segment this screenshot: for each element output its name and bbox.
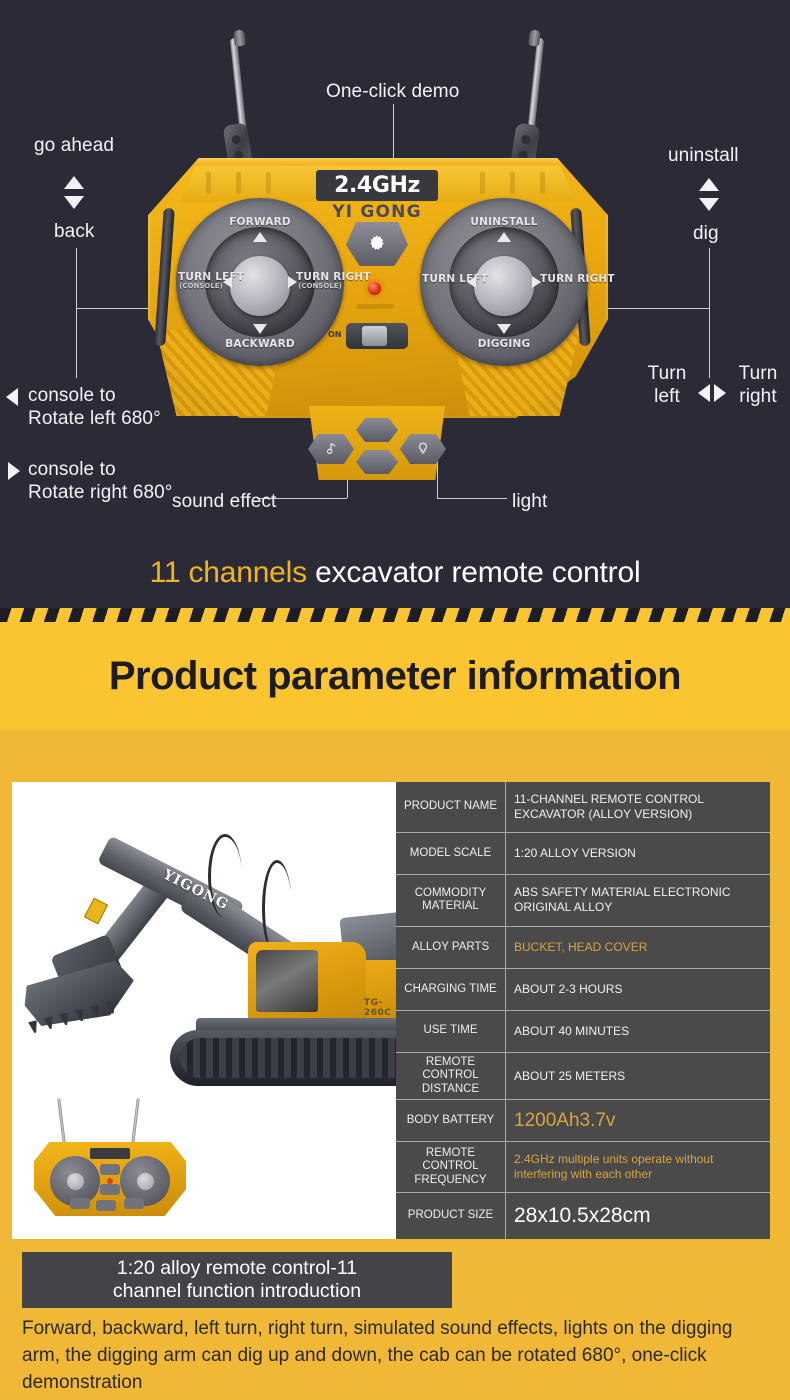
table-row: USE TIMEABOUT 40 MINUTES — [396, 1011, 770, 1053]
gear-icon — [366, 233, 388, 255]
hero-tagline: 11 channels excavator remote control — [0, 556, 790, 590]
caption-line2: channel function introduction — [113, 1280, 361, 1302]
table-cell-key: MODEL SCALE — [396, 833, 506, 874]
turn-right-line2: right — [739, 386, 776, 407]
turn-left-line2: left — [654, 386, 680, 407]
table-cell-value: BUCKET, HEAD COVER — [506, 927, 770, 968]
turn-left-line1: Turn — [648, 363, 687, 384]
hazard-stripe-divider — [0, 608, 790, 622]
table-cell-key: REMOTE CONTROL DISTANCE — [396, 1053, 506, 1100]
antenna-tip-right — [528, 29, 541, 46]
joystick-stick-right[interactable] — [474, 256, 534, 316]
function-description: Forward, backward, left turn, right turn… — [22, 1316, 762, 1397]
arrow-down-icon-left — [64, 196, 84, 209]
pod-right-label-uninstall: UNINSTALL — [420, 216, 588, 228]
mini-remote-badge — [90, 1148, 130, 1159]
warning-sticker — [84, 898, 108, 925]
callout-dig: dig — [693, 222, 719, 246]
spec-section: YIGONG TG-260C PRODUC — [12, 782, 770, 1239]
hero-section: One-click demo go ahead back uninstall d… — [0, 0, 790, 608]
photo-mini-remote — [34, 1098, 186, 1216]
excavator-track — [170, 1030, 396, 1086]
mini-button-3 — [70, 1198, 90, 1209]
pod-left-label-turn-right: TURN RIGHT (CONSOLE) — [296, 272, 344, 290]
leader-line-left-vertical — [76, 248, 77, 378]
arrow-up-icon-left — [64, 176, 84, 189]
pod-right-label-turn-left: TURN LEFT — [422, 274, 468, 285]
leader-line-right-vertical — [709, 248, 710, 378]
pod-left-turn-right-sub: (CONSOLE) — [296, 283, 344, 290]
mini-button-1 — [100, 1164, 120, 1175]
pod-right-arrow-left-icon — [467, 276, 476, 288]
table-cell-key: COMMODITY MATERIAL — [396, 875, 506, 926]
table-cell-value: 1:20 ALLOY VERSION — [506, 833, 770, 874]
pod-left-arrow-right-icon — [288, 276, 297, 288]
pod-left-label-turn-left: TURN LEFT (CONSOLE) — [178, 272, 224, 290]
table-cell-value: 28x10.5x28cm — [506, 1193, 770, 1239]
arrow-right-icon-console-r — [8, 462, 20, 480]
arrow-left-icon-console-l — [6, 388, 18, 406]
table-row: CHARGING TIMEABOUT 2-3 HOURS — [396, 969, 770, 1011]
remote-control-device: 2.4GHz YI GONG ON OFF FORWARD BACKWARD T… — [128, 30, 628, 470]
antenna-tip-left — [233, 29, 246, 46]
console-rotate-left-line1: console to — [28, 385, 116, 406]
table-row: PRODUCT SIZE28x10.5x28cm — [396, 1193, 770, 1239]
caption-line1: 1:20 alloy remote control-11 — [117, 1257, 357, 1279]
table-row: ALLOY PARTSBUCKET, HEAD COVER — [396, 927, 770, 969]
table-cell-value: ABOUT 25 METERS — [506, 1053, 770, 1100]
tagline-highlight: 11 channels — [150, 556, 307, 589]
pod-right-arrow-up-icon — [497, 232, 511, 242]
mini-stick-right — [137, 1173, 154, 1190]
table-cell-key: PRODUCT NAME — [396, 782, 506, 832]
callout-go-ahead: go ahead — [34, 134, 114, 158]
mini-button-4 — [96, 1200, 116, 1211]
sound-icon — [323, 441, 339, 457]
mini-antenna-right — [131, 1098, 140, 1144]
arrow-up-icon-right — [699, 178, 719, 191]
callout-light: light — [512, 490, 547, 514]
table-cell-key: CHARGING TIME — [396, 969, 506, 1010]
caption-text: 1:20 alloy remote control-11channel func… — [113, 1257, 361, 1303]
speaker-slot — [356, 304, 394, 309]
mini-button-5 — [124, 1198, 144, 1209]
table-cell-key: BODY BATTERY — [396, 1100, 506, 1141]
table-cell-value: 11-CHANNEL REMOTE CONTROL EXCAVATOR (ALL… — [506, 782, 770, 832]
pod-left-arrow-left-icon — [223, 276, 232, 288]
table-row: COMMODITY MATERIALABS SAFETY MATERIAL EL… — [396, 875, 770, 927]
callout-sound-effect: sound effect — [172, 490, 276, 514]
table-cell-value: 1200Ah3.7v — [506, 1100, 770, 1141]
turn-right-line1: Turn — [739, 363, 778, 384]
table-row: REMOTE CONTROL DISTANCEABOUT 25 METERS — [396, 1053, 770, 1101]
pod-right-arrow-down-icon — [497, 324, 511, 334]
table-cell-value: 2.4GHz multiple units operate without in… — [506, 1142, 770, 1192]
table-row: REMOTE CONTROL FREQUENCY2.4GHz multiple … — [396, 1142, 770, 1193]
pod-left-label-forward: FORWARD — [176, 216, 344, 228]
frequency-badge: 2.4GHz — [316, 170, 438, 201]
power-switch-knob[interactable] — [362, 326, 387, 346]
pod-left-arrow-up-icon — [253, 232, 267, 242]
product-photo-panel: YIGONG TG-260C — [12, 782, 396, 1239]
excavator-model-decal: TG-260C — [364, 998, 396, 1018]
console-rotate-right-line1: console to — [28, 459, 116, 480]
mini-stick-left — [67, 1173, 84, 1190]
callout-back: back — [54, 220, 95, 244]
table-cell-value: ABOUT 40 MINUTES — [506, 1011, 770, 1052]
joystick-pod-right[interactable]: UNINSTALL DIGGING TURN LEFT TURN RIGHT — [420, 198, 588, 366]
console-rotate-right-line2: Rotate right 680° — [28, 482, 173, 503]
arrow-left-icon-turn — [698, 384, 710, 402]
mini-antenna-left — [57, 1098, 66, 1144]
pod-right-arrow-right-icon — [532, 276, 541, 288]
joystick-pod-left[interactable]: FORWARD BACKWARD TURN LEFT (CONSOLE) TUR… — [176, 198, 344, 366]
specification-table: PRODUCT NAME11-CHANNEL REMOTE CONTROL EX… — [396, 782, 770, 1239]
table-row: BODY BATTERY1200Ah3.7v — [396, 1100, 770, 1142]
table-cell-value: ABOUT 2-3 HOURS — [506, 969, 770, 1010]
leader-line-light-h — [437, 498, 507, 499]
joystick-stick-left[interactable] — [230, 256, 290, 316]
status-led-indicator — [368, 282, 381, 295]
callout-turn-left: Turn left — [640, 362, 694, 408]
arrow-down-icon-right — [699, 198, 719, 211]
light-bulb-icon — [415, 441, 431, 457]
pod-right-label-digging: DIGGING — [420, 338, 588, 350]
table-cell-key: USE TIME — [396, 1011, 506, 1052]
table-row: MODEL SCALE1:20 ALLOY VERSION — [396, 833, 770, 875]
table-row: PRODUCT NAME11-CHANNEL REMOTE CONTROL EX… — [396, 782, 770, 833]
pod-right-label-turn-right: TURN RIGHT — [540, 274, 588, 285]
mini-button-2 — [100, 1184, 120, 1195]
pod-left-label-backward: BACKWARD — [176, 338, 344, 350]
table-cell-key: ALLOY PARTS — [396, 927, 506, 968]
table-cell-key: PRODUCT SIZE — [396, 1193, 506, 1239]
pod-left-arrow-down-icon — [253, 324, 267, 334]
tagline-rest: excavator remote control — [307, 556, 640, 589]
banner-title: Product parameter information — [109, 654, 681, 699]
callout-uninstall: uninstall — [668, 144, 739, 168]
parameter-banner: Product parameter information — [0, 622, 790, 730]
table-cell-value: ABS SAFETY MATERIAL ELECTRONIC ORIGINAL … — [506, 875, 770, 926]
arrow-right-icon-turn — [714, 384, 726, 402]
excavator-cab-window — [256, 950, 318, 1012]
function-intro-caption: 1:20 alloy remote control-11channel func… — [22, 1252, 452, 1308]
callout-turn-right: Turn right — [730, 362, 786, 408]
table-cell-key: REMOTE CONTROL FREQUENCY — [396, 1142, 506, 1192]
pod-left-turn-left-sub: (CONSOLE) — [178, 283, 224, 290]
